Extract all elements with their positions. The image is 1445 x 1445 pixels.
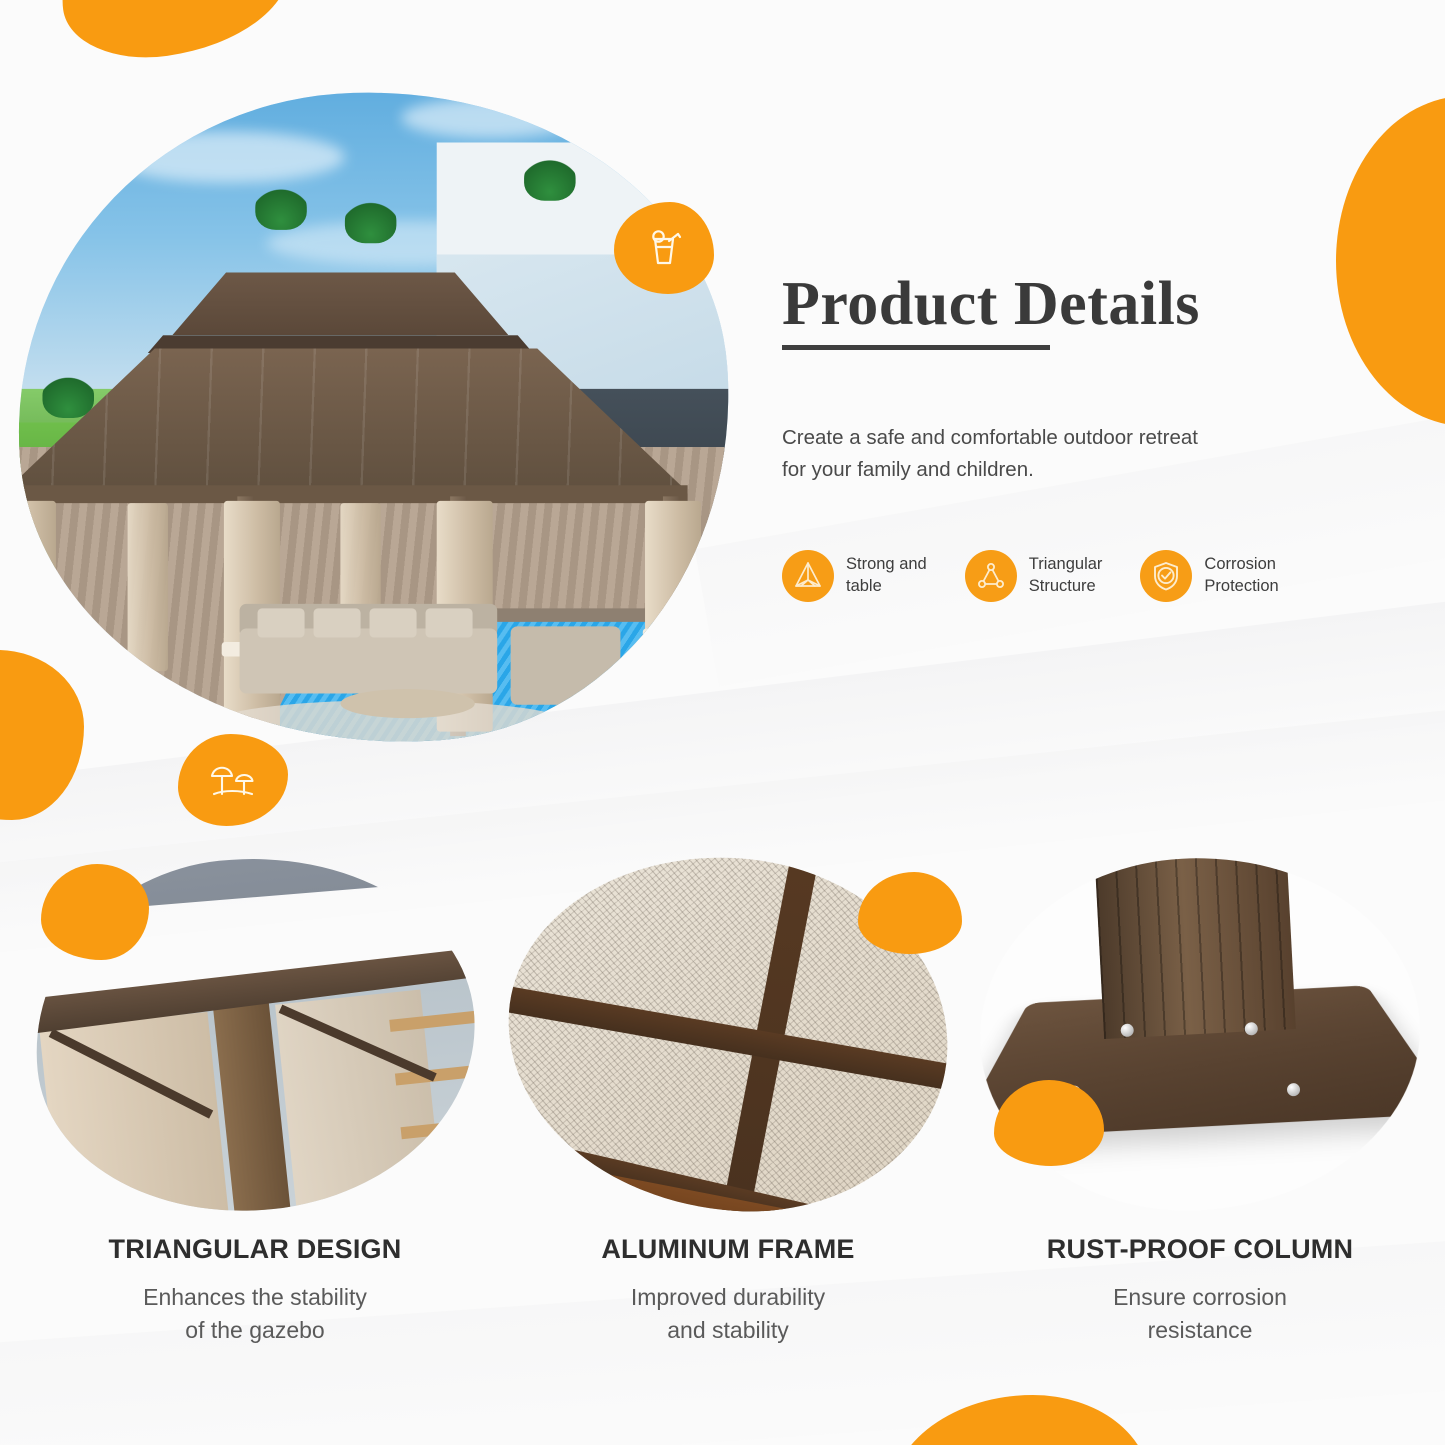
hero-scene — [0, 68, 752, 768]
gazebo-curtain — [645, 501, 701, 714]
gazebo-upper-roof — [172, 272, 508, 335]
detail-card-desc: Ensure corrosion resistance — [965, 1281, 1435, 1346]
hero-image-mask — [0, 68, 752, 768]
detail-photo-triangular — [35, 858, 475, 1210]
badge-drink — [614, 202, 714, 294]
palm-tree — [524, 156, 576, 201]
palm-tree — [345, 198, 397, 243]
gazebo-fascia — [4, 485, 687, 503]
patio-sofa — [240, 629, 498, 694]
column-post — [1093, 847, 1296, 1039]
cushion — [370, 608, 417, 637]
feature-item-strong: Strong and table — [782, 550, 927, 602]
feature-item-triangular: Triangular Structure — [965, 550, 1103, 602]
infographic-page: Product Details Create a safe and comfor… — [0, 0, 1445, 1445]
cocktail-drink-icon — [641, 225, 687, 271]
detail-card-title: TRIANGULAR DESIGN — [20, 1234, 490, 1265]
palm-tree — [255, 185, 307, 230]
cushion — [426, 608, 473, 637]
feature-label: Triangular Structure — [1029, 554, 1103, 598]
shield-check-icon — [1140, 550, 1192, 602]
feature-label: Strong and table — [846, 554, 927, 598]
detail-card-rust-proof-column: RUST-PROOF COLUMN Ensure corrosion resis… — [965, 858, 1435, 1346]
coffee-table — [340, 689, 474, 718]
detail-photo-column — [980, 858, 1420, 1210]
detail-card-title: ALUMINUM FRAME — [493, 1234, 963, 1265]
detail-card-desc: Enhances the stability of the gazebo — [20, 1281, 490, 1346]
curtain-tieback — [643, 629, 703, 644]
detail-card-triangular-design: TRIANGULAR DESIGN Enhances the stability… — [20, 858, 490, 1346]
detail-photo-aluminum — [508, 858, 948, 1210]
hero-image — [18, 92, 730, 744]
triangle-nodes-icon — [965, 550, 1017, 602]
beach-parasol-icon — [206, 756, 260, 804]
gazebo-roof-panel-lines — [4, 349, 687, 492]
pyramid-frame-icon — [782, 550, 834, 602]
page-subtitle: Create a safe and comfortable outdoor re… — [782, 422, 1212, 486]
feature-label: Corrosion Protection — [1204, 554, 1278, 598]
detail-card-aluminum-frame: ALUMINUM FRAME Improved durability and s… — [493, 858, 963, 1346]
cushion — [314, 608, 361, 637]
feature-item-corrosion: Corrosion Protection — [1140, 550, 1278, 602]
detail-card-desc: Improved durability and stability — [493, 1281, 963, 1346]
cloud — [401, 98, 580, 138]
detail-card-title: RUST-PROOF COLUMN — [965, 1234, 1435, 1265]
cushion — [258, 608, 305, 637]
gazebo — [4, 272, 687, 742]
curtain-tieback — [0, 629, 58, 644]
header-block: Product Details Create a safe and comfor… — [782, 272, 1402, 506]
detail-card-list: TRIANGULAR DESIGN Enhances the stability… — [0, 858, 1445, 1418]
page-title: Product Details — [782, 272, 1402, 337]
patio-armchair — [511, 626, 621, 704]
decorative-blob-top-left — [51, 0, 300, 69]
column-ridges — [1093, 847, 1296, 1039]
title-underline — [782, 345, 1050, 350]
feature-list: Strong and table Triangular Structure — [782, 550, 1422, 602]
cloud — [110, 131, 345, 183]
gazebo-curtain — [128, 503, 168, 671]
